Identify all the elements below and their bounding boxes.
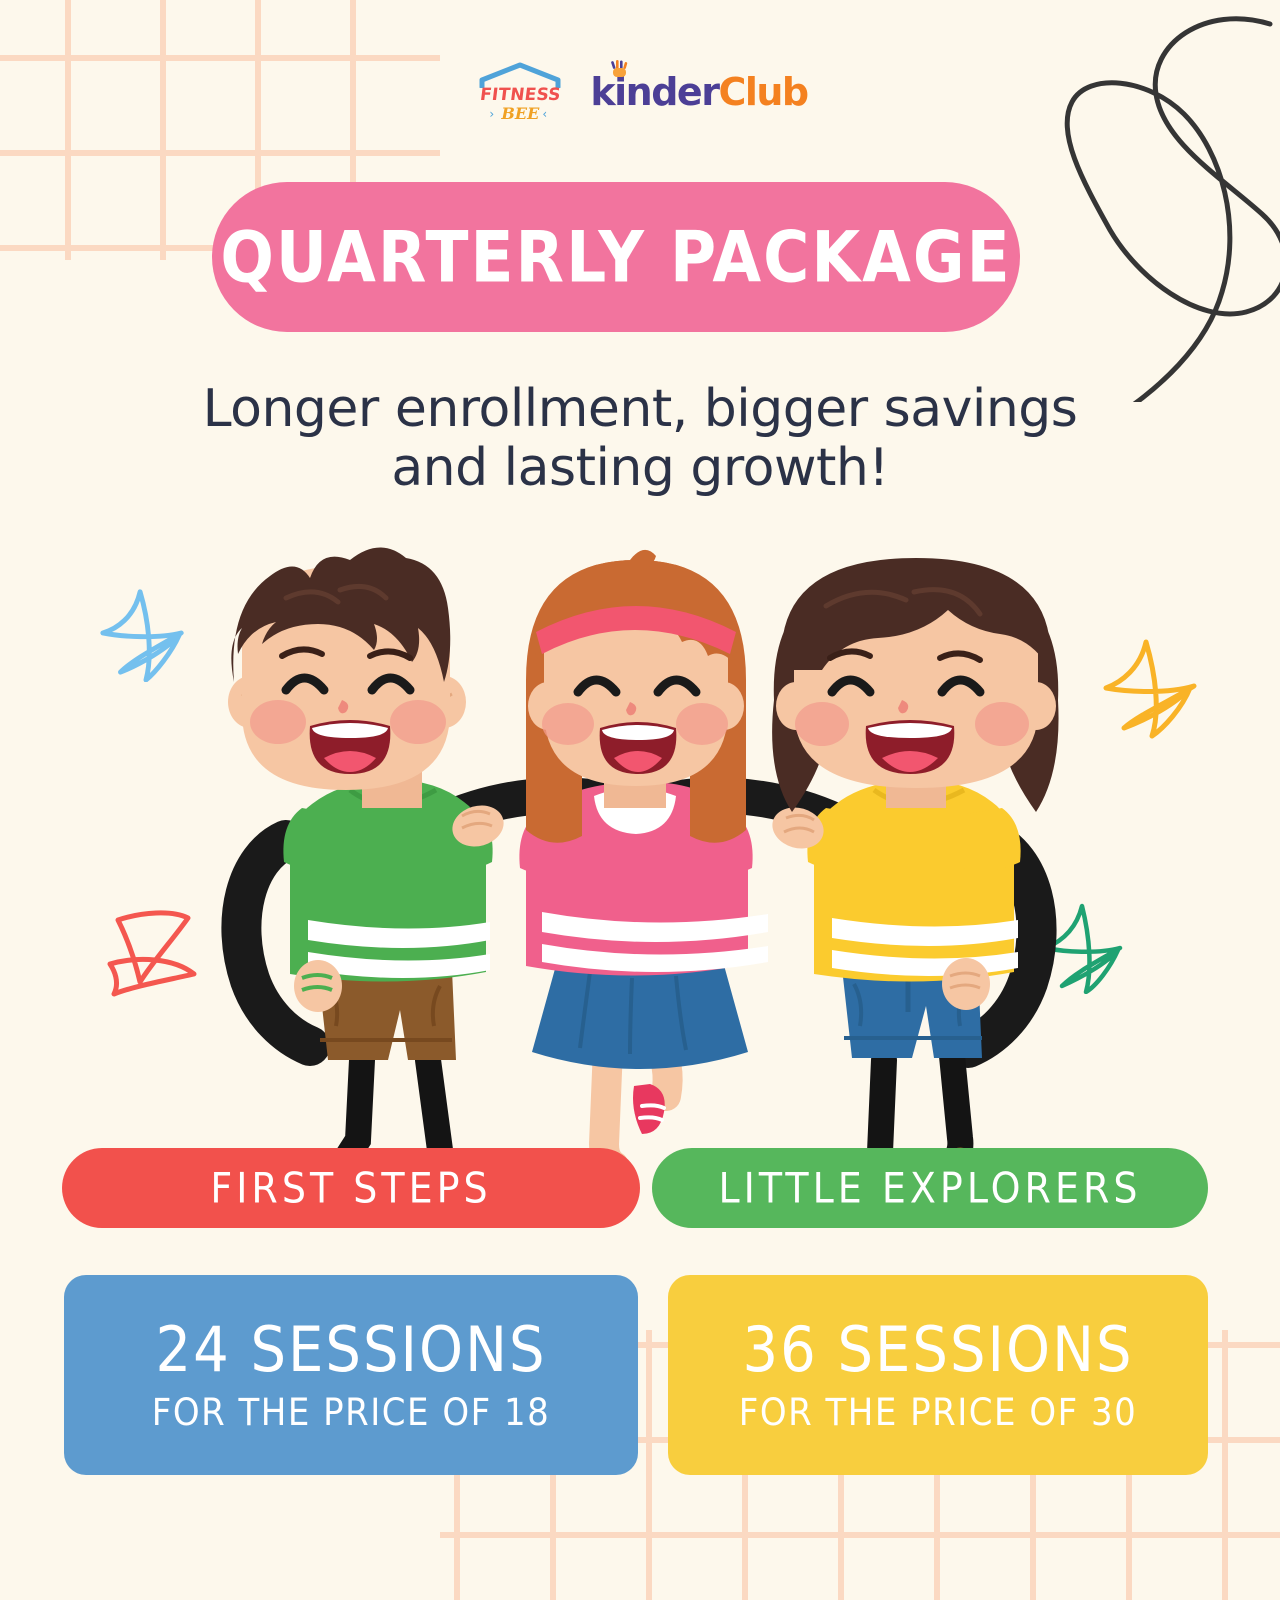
offer-card-36-subline: FOR THE PRICE OF 30 (739, 1391, 1137, 1435)
subtitle: Longer enrollment, bigger savings and la… (110, 380, 1170, 499)
offer-card-24-headline: 24 SESSIONS (155, 1314, 546, 1387)
subtitle-line-2: and lasting growth! (110, 439, 1170, 498)
star-doodle-yellow-icon (1098, 630, 1202, 740)
fitness-bee-logo: FITNESS › BEE ‹ (472, 62, 568, 122)
title-banner: QUARTERLY PACKAGE (212, 182, 1020, 332)
subtitle-line-1: Longer enrollment, bigger savings (110, 380, 1170, 439)
brand-logo-row: FITNESS › BEE ‹ kinderClub (0, 62, 1280, 122)
kinderclub-logo: kinderClub (590, 73, 807, 111)
program-pill-first-steps[interactable]: FIRST STEPS (62, 1148, 640, 1228)
bee-accent-right-icon: ‹ (542, 110, 551, 119)
page-title: QUARTERLY PACKAGE (220, 216, 1011, 298)
fitness-bee-word-fitness: FITNESS (479, 87, 562, 104)
loop-doodle-icon (970, 0, 1280, 402)
offer-card-36-headline: 36 SESSIONS (742, 1314, 1133, 1387)
program-pill-little-explorers-label: LITTLE EXPLORERS (718, 1164, 1141, 1212)
offer-card-24-subline: FOR THE PRICE OF 18 (152, 1391, 550, 1435)
fitness-bee-word-bee-row: › BEE ‹ (489, 106, 551, 122)
poster-canvas: FITNESS › BEE ‹ kinderClub QUARTERLY PAC… (0, 0, 1280, 1600)
three-happy-children-illustration (190, 540, 1090, 1180)
bee-accent-left-icon: › (489, 110, 498, 119)
program-pill-first-steps-label: FIRST STEPS (210, 1164, 491, 1212)
star-doodle-red-icon (96, 896, 200, 1006)
program-pill-little-explorers[interactable]: LITTLE EXPLORERS (652, 1148, 1208, 1228)
fitness-bee-word-bee: BEE (501, 106, 539, 122)
kinderclub-word-club: Club (718, 70, 807, 114)
star-doodle-blue-icon (95, 578, 193, 682)
offer-card-24-sessions[interactable]: 24 SESSIONS FOR THE PRICE OF 18 (64, 1275, 638, 1475)
offer-card-36-sessions[interactable]: 36 SESSIONS FOR THE PRICE OF 30 (668, 1275, 1208, 1475)
waving-hand-icon (610, 60, 630, 78)
